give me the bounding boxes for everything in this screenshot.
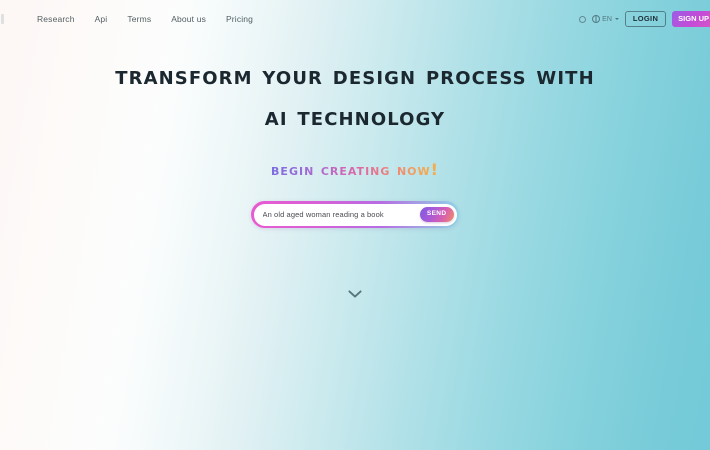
prompt-input[interactable] [263,210,420,219]
nav-link-about-us[interactable]: About us [171,14,206,24]
primary-nav: Research Api Terms About us Pricing [37,14,253,24]
hero-subheadline: Begin creating now! [271,160,439,179]
theme-toggle-icon[interactable] [579,16,586,23]
headline-line-2: AI technology [265,102,445,131]
nav-link-api[interactable]: Api [95,14,108,24]
nav-link-terms[interactable]: Terms [127,14,151,24]
globe-icon [592,15,600,23]
hero-section: Transform your design process with AI te… [0,0,710,450]
site-header: Research Api Terms About us Pricing EN L… [0,0,710,38]
prompt-bar: SEND [251,201,459,228]
nav-link-pricing[interactable]: Pricing [226,14,253,24]
language-label: EN [602,16,612,23]
scroll-down-button[interactable] [345,284,365,304]
signup-button[interactable]: SIGN UP [672,11,710,27]
nav-link-research[interactable]: Research [37,14,75,24]
language-selector[interactable]: EN [592,15,619,23]
send-button[interactable]: SEND [420,207,454,223]
chevron-down-icon [615,18,619,20]
page-title: Transform your design process with AI te… [115,56,594,137]
chevron-down-icon [348,290,362,299]
brand-mark-icon[interactable] [1,11,15,27]
prompt-bar-inner: SEND [254,204,457,226]
login-button[interactable]: LOGIN [625,11,666,28]
headline-line-1: Transform your design process with [115,61,594,90]
header-actions: EN LOGIN SIGN UP [579,11,706,28]
